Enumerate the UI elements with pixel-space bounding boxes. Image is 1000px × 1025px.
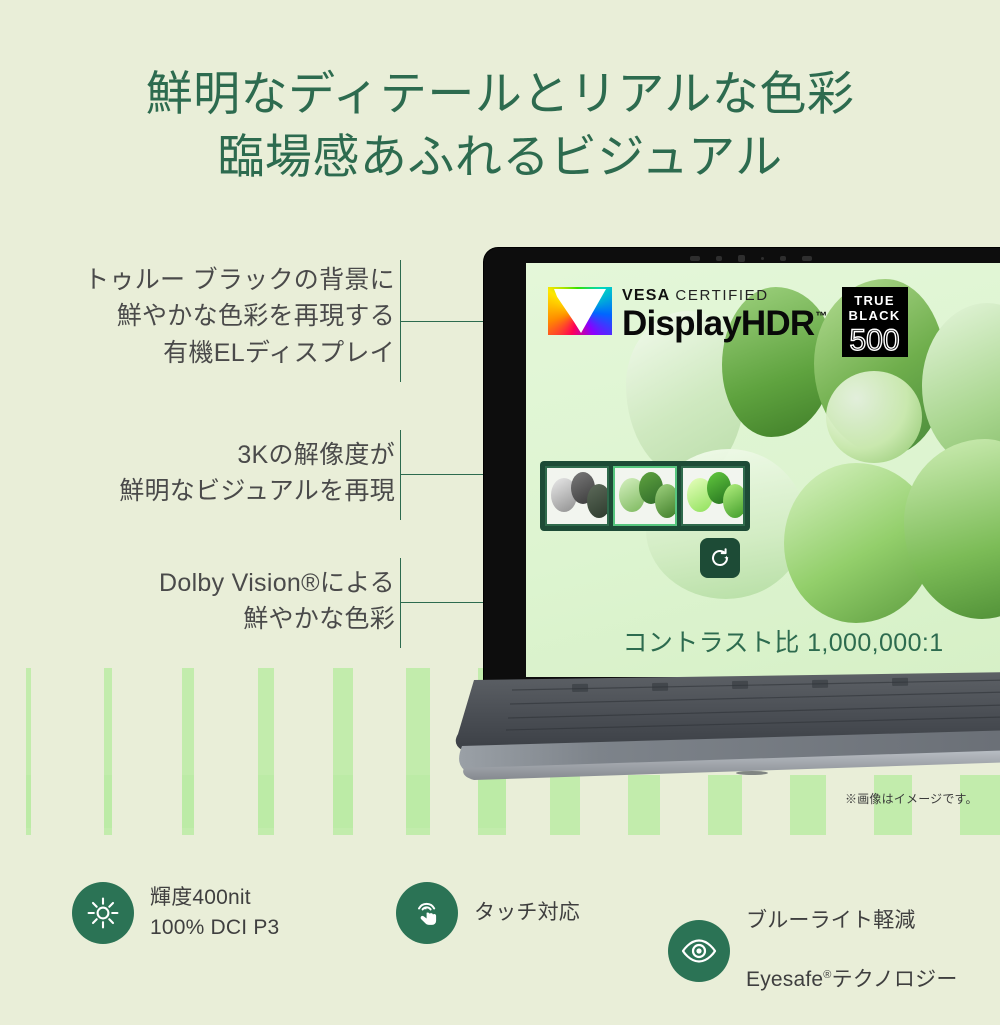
- seal-line-2: BLACK: [849, 309, 901, 324]
- touch-hand-icon: [396, 882, 458, 944]
- enhance-refresh-button[interactable]: [700, 538, 740, 578]
- callout-dolby-vision-label: Dolby Vision®による 鮮やかな色彩: [30, 565, 395, 638]
- eyesafe-line-2: Eyesafe®テクノロジー: [746, 965, 958, 995]
- stripe: [258, 775, 274, 835]
- vesa-certified-line: VESA CERTIFIED: [622, 288, 826, 304]
- laptop-lid: VESA CERTIFIED DisplayHDR™ TRUE BLACK 50…: [484, 248, 1000, 680]
- callout-oled-display: トゥルー ブラックの背景に 鮮やかな色彩を再現する 有機ELディスプレイ: [30, 262, 395, 371]
- thumb-art: [655, 484, 677, 518]
- stripe: [104, 775, 112, 835]
- headline-line-2: 臨場感あふれるビジュアル: [0, 125, 1000, 188]
- true-black-500-seal: TRUE BLACK 500: [842, 287, 908, 357]
- stripe: [26, 775, 31, 835]
- callout-rule: [400, 558, 401, 648]
- trademark-symbol: ™: [815, 309, 826, 323]
- laptop-screen: VESA CERTIFIED DisplayHDR™ TRUE BLACK 50…: [526, 263, 1000, 677]
- thumbnail-preset-2[interactable]: [613, 466, 677, 526]
- eye-icon: [668, 920, 730, 982]
- screen-artwork-blob: [904, 439, 1000, 619]
- feature-eyesafe-label: ブルーライト軽減 Eyesafe®テクノロジー: [746, 876, 958, 1025]
- seal-value: 500: [850, 326, 900, 356]
- laptop-device: VESA CERTIFIED DisplayHDR™ TRUE BLACK 50…: [452, 248, 1000, 788]
- vesa-word: VESA: [622, 287, 670, 304]
- stripe: [333, 775, 353, 835]
- callout-rule: [400, 430, 401, 520]
- feature-row: 輝度400nit 100% DCI P3 タッチ対応: [0, 866, 1000, 966]
- preset-thumbnail-strip[interactable]: [540, 461, 750, 531]
- callout-3k-resolution: 3Kの解像度が 鮮明なビジュアルを再現: [30, 437, 395, 510]
- callout-oled-display-label: トゥルー ブラックの背景に 鮮やかな色彩を再現する 有機ELディスプレイ: [30, 262, 395, 371]
- eyesafe-line-1: ブルーライト軽減: [746, 906, 958, 936]
- registered-symbol: ®: [823, 969, 831, 981]
- thumbnail-preset-3[interactable]: [681, 466, 745, 526]
- webcam-sensor-array: [690, 255, 812, 262]
- vesa-logo-icon: [548, 287, 612, 335]
- feature-touch: タッチ対応: [396, 882, 580, 944]
- laptop-base: [452, 672, 1000, 792]
- thumbnail-preset-1[interactable]: [545, 466, 609, 526]
- thumb-art: [587, 484, 609, 518]
- image-disclaimer: ※画像はイメージです。: [845, 790, 978, 807]
- stripe: [182, 775, 194, 835]
- contrast-ratio-label: コントラスト比 1,000,000:1: [526, 623, 1000, 659]
- feature-brightness: 輝度400nit 100% DCI P3: [72, 882, 279, 944]
- feature-touch-label: タッチ対応: [474, 898, 580, 928]
- callout-dolby-vision: Dolby Vision®による 鮮やかな色彩: [30, 565, 395, 638]
- refresh-sparkle-icon: [708, 546, 732, 570]
- thumb-art: [723, 484, 745, 518]
- brightness-sun-icon: [72, 882, 134, 944]
- stripe: [406, 775, 430, 835]
- marketing-slide: 鮮明なディテールとリアルな色彩 臨場感あふれるビジュアル トゥルー ブラックの背…: [0, 0, 1000, 1000]
- feature-brightness-label: 輝度400nit 100% DCI P3: [150, 883, 279, 943]
- headline-line-1: 鮮明なディテールとリアルな色彩: [146, 67, 855, 120]
- certified-word: CERTIFIED: [675, 287, 768, 304]
- displayhdr-wordmark: DisplayHDR™: [622, 306, 826, 343]
- feature-eyesafe: ブルーライト軽減 Eyesafe®テクノロジー: [668, 876, 958, 1025]
- callout-3k-resolution-label: 3Kの解像度が 鮮明なビジュアルを再現: [30, 437, 395, 510]
- vesa-displayhdr-badge: VESA CERTIFIED DisplayHDR™ TRUE BLACK 50…: [548, 287, 908, 357]
- seal-line-1: TRUE: [854, 294, 895, 309]
- screen-artwork-blob: [826, 371, 922, 463]
- laptop-base-graphic: [452, 672, 1000, 792]
- page-title: 鮮明なディテールとリアルな色彩 臨場感あふれるビジュアル: [0, 62, 1000, 189]
